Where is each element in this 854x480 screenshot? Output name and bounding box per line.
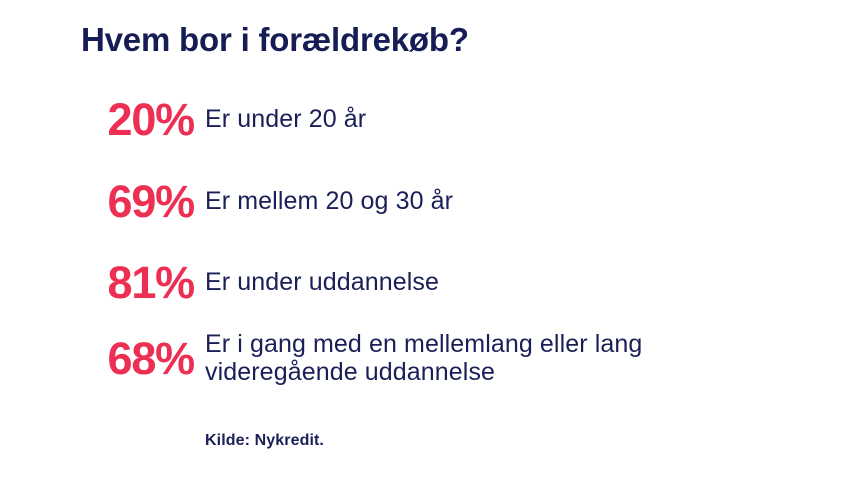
- stat-description-line: Er under uddannelse: [205, 268, 835, 296]
- stat-percentage: 20%: [0, 97, 194, 142]
- list-item: 68% Er i gang med en mellemlang eller la…: [0, 322, 854, 394]
- stat-description: Er under 20 år: [205, 105, 835, 133]
- stat-description: Er mellem 20 og 30 år: [205, 187, 835, 215]
- stat-description-line: Er i gang med en mellemlang eller lang: [205, 330, 835, 358]
- stat-percentage: 69%: [0, 179, 194, 224]
- stat-description: Er under uddannelse: [205, 268, 835, 296]
- page-title: Hvem bor i forældrekøb?: [81, 22, 469, 58]
- stat-percentage: 68%: [0, 336, 194, 381]
- list-item: 69% Er mellem 20 og 30 år: [0, 170, 854, 232]
- list-item: 81% Er under uddannelse: [0, 251, 854, 313]
- stat-description-line: Er under 20 år: [205, 105, 835, 133]
- stat-percentage: 81%: [0, 260, 194, 305]
- stat-description: Er i gang med en mellemlang eller lang v…: [205, 330, 835, 386]
- stat-description-line: Er mellem 20 og 30 år: [205, 187, 835, 215]
- stat-description-line: videregående uddannelse: [205, 358, 835, 386]
- infographic-card: Hvem bor i forældrekøb? 20% Er under 20 …: [0, 0, 854, 480]
- source-note: Kilde: Nykredit.: [205, 432, 324, 450]
- list-item: 20% Er under 20 år: [0, 88, 854, 150]
